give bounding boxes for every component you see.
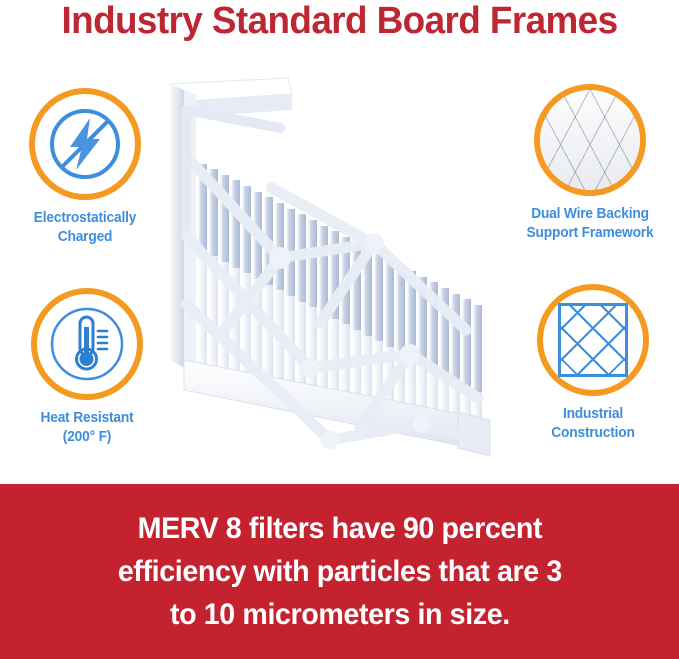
feature-label: Industrial Construction <box>512 405 674 443</box>
pleated-air-filter-illustration <box>160 68 510 470</box>
lattice-square-shape <box>558 303 628 377</box>
feature-label-line2: (200° F) <box>6 428 168 447</box>
lightning-bolt-icon <box>29 88 141 200</box>
feature-dual-wire-backing: Dual Wire Backing Support Framework <box>505 84 675 243</box>
banner-line-1: MERV 8 filters have 90 percent <box>117 507 561 550</box>
page-title: Industry Standard Board Frames <box>10 0 669 43</box>
feature-label: Heat Resistant (200° F) <box>6 409 168 447</box>
banner-line-2: efficiency with particles that are 3 <box>117 550 561 593</box>
wire-mesh-photo-icon <box>534 84 646 196</box>
banner-line-3: to 10 micrometers in size. <box>117 593 561 636</box>
feature-label-line1: Electrostatically <box>4 209 166 228</box>
merv-rating-banner: MERV 8 filters have 90 percent efficienc… <box>0 484 679 659</box>
feature-electrostatically-charged: Electrostatically Charged <box>0 88 170 247</box>
wire-mesh-texture <box>540 90 640 190</box>
feature-industrial-construction: Industrial Construction <box>508 284 678 443</box>
feature-label: Dual Wire Backing Support Framework <box>509 205 671 243</box>
feature-label-line1: Industrial <box>512 405 674 424</box>
feature-label: Electrostatically Charged <box>4 209 166 247</box>
feature-label-line1: Dual Wire Backing <box>509 205 671 224</box>
thermometer-icon <box>31 288 143 400</box>
feature-label-line2: Support Framework <box>509 224 671 243</box>
banner-text: MERV 8 filters have 90 percent efficienc… <box>67 507 612 636</box>
feature-label-line2: Charged <box>4 228 166 247</box>
feature-label-line2: Construction <box>512 424 674 443</box>
lattice-square-icon <box>537 284 649 396</box>
feature-heat-resistant: Heat Resistant (200° F) <box>2 288 172 447</box>
product-infographic: Industry Standard Board Frames <box>0 0 679 659</box>
feature-label-line1: Heat Resistant <box>6 409 168 428</box>
